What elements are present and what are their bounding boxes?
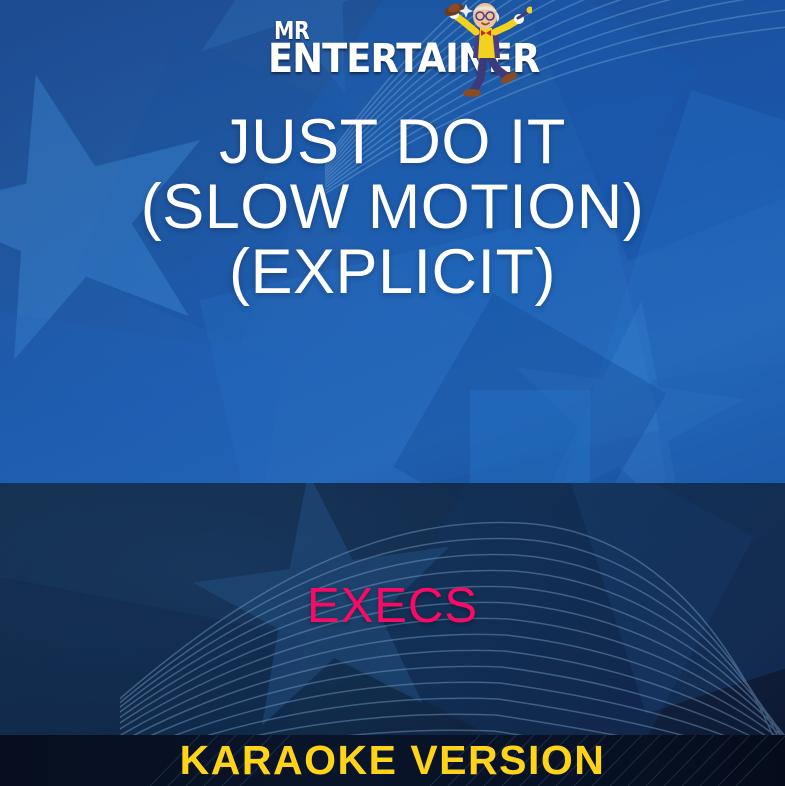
brand-logo[interactable]: MR ENTERTAINER [0, 4, 785, 100]
dancing-entertainer-mascot-icon [440, 2, 532, 102]
song-title-line-1: JUST DO IT [24, 110, 761, 175]
karaoke-version-banner: KARAOKE VERSION [0, 735, 785, 786]
background-facet [652, 361, 785, 483]
song-title: JUST DO IT (SLOW MOTION) (EXPLICIT) [0, 110, 785, 305]
banner-label: KARAOKE VERSION [180, 737, 606, 784]
karaoke-album-cover: MR ENTERTAINER [0, 0, 785, 786]
song-title-line-2: (SLOW MOTION) [24, 175, 761, 240]
song-title-line-3: (EXPLICIT) [24, 240, 761, 305]
artist-name: EXECS [0, 578, 785, 634]
background-facet [470, 390, 590, 483]
